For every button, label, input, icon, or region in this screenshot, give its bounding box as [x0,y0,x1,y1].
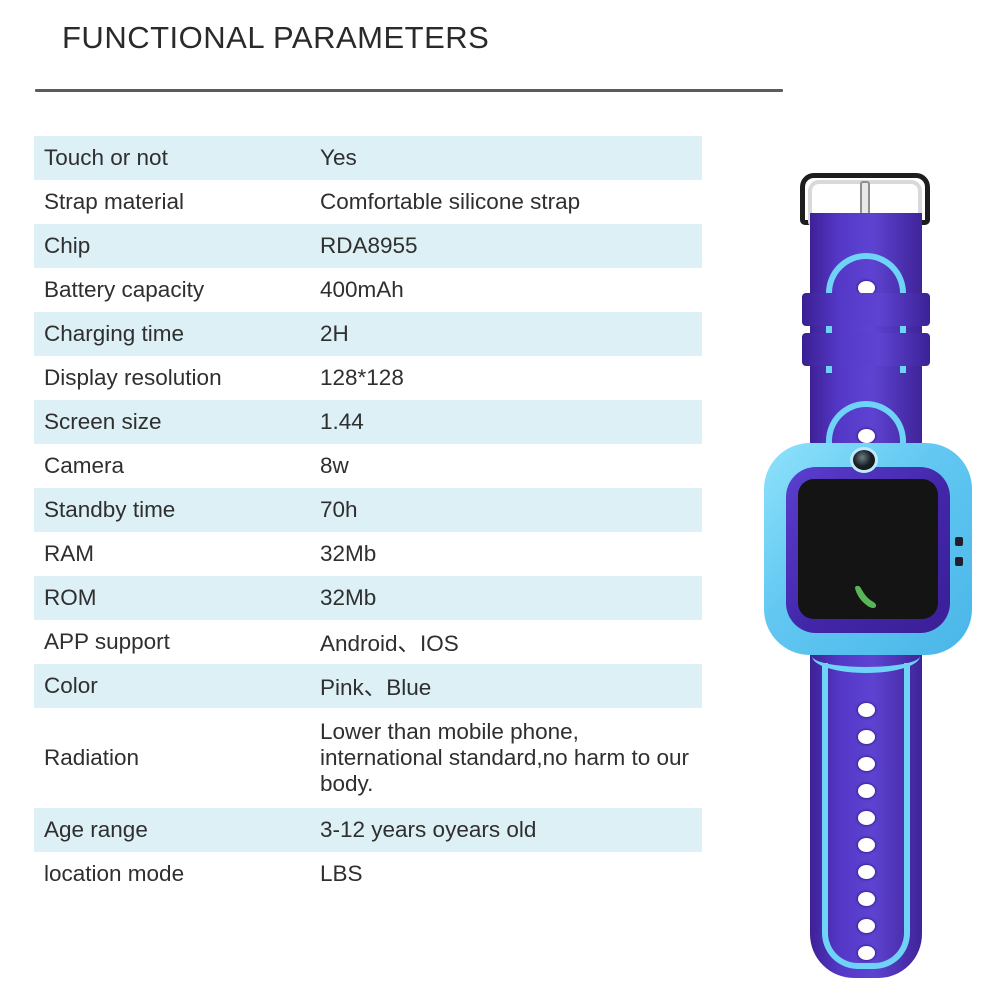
spec-value: 32Mb [320,585,376,611]
spec-value: Android、IOS [320,626,459,658]
strap-adjustment-hole [858,811,875,825]
spec-label: Touch or not [34,145,320,171]
side-button-top [955,537,963,546]
table-row: Battery capacity400mAh [34,268,702,312]
strap-hole-upper-2 [858,429,875,443]
spec-value: Yes [320,145,357,171]
table-row: ROM32Mb [34,576,702,620]
table-row: Age range3-12 years oyears old [34,808,702,852]
table-row: Camera8w [34,444,702,488]
spec-label: Chip [34,233,320,259]
strap-adjustment-hole [858,919,875,933]
strap-adjustment-hole [858,946,875,960]
spec-value: 3-12 years oyears old [320,817,536,843]
spec-label: Radiation [34,745,320,771]
spec-value: 128*128 [320,365,404,391]
strap-adjustment-hole [858,784,875,798]
spec-value: 2H [320,321,349,347]
side-button-bottom [955,557,963,566]
table-row: Strap materialComfortable silicone strap [34,180,702,224]
spec-value: Comfortable silicone strap [320,189,580,215]
spec-label: Charging time [34,321,320,347]
spec-label: Battery capacity [34,277,320,303]
spec-value: 70h [320,497,358,523]
kids-smart-watch-image [752,165,984,980]
table-row: APP supportAndroid、IOS [34,620,702,664]
table-row: RadiationLower than mobile phone, intern… [34,708,702,808]
spec-label: ROM [34,585,320,611]
spec-label: Display resolution [34,365,320,391]
strap-adjustment-hole [858,892,875,906]
table-row: Standby time70h [34,488,702,532]
spec-label: Color [34,673,320,699]
table-row: Touch or notYes [34,136,702,180]
strap-adjustment-hole [858,865,875,879]
table-row: Display resolution128*128 [34,356,702,400]
functional-parameters-table: Touch or notYesStrap materialComfortable… [34,136,702,896]
table-row: Screen size1.44 [34,400,702,444]
spec-label: location mode [34,861,320,887]
spec-label: APP support [34,629,320,655]
spec-value: Pink、Blue [320,670,431,702]
spec-label: Age range [34,817,320,843]
strap-keeper-loop-1 [802,293,930,326]
spec-value: LBS [320,861,363,887]
strap-adjustment-hole [858,838,875,852]
strap-adjustment-hole [858,703,875,717]
watch-screen [798,479,938,619]
strap-adjustment-hole [858,730,875,744]
table-row: RAM32Mb [34,532,702,576]
spec-label: Standby time [34,497,320,523]
page-title: FUNCTIONAL PARAMETERS [62,20,489,56]
camera-lens-icon [850,447,878,473]
spec-label: Camera [34,453,320,479]
table-row: ColorPink、Blue [34,664,702,708]
title-divider [35,89,783,92]
table-row: Charging time2H [34,312,702,356]
table-row: ChipRDA8955 [34,224,702,268]
spec-value: 32Mb [320,541,376,567]
spec-label: Screen size [34,409,320,435]
spec-value: 1.44 [320,409,364,435]
spec-value: RDA8955 [320,233,418,259]
phone-call-icon [850,584,880,610]
spec-value: 400mAh [320,277,404,303]
spec-value: Lower than mobile phone, international s… [320,719,692,797]
spec-label: RAM [34,541,320,567]
table-row: location modeLBS [34,852,702,896]
strap-keeper-loop-2 [802,333,930,366]
spec-value: 8w [320,453,349,479]
strap-adjustment-hole [858,757,875,771]
spec-label: Strap material [34,189,320,215]
